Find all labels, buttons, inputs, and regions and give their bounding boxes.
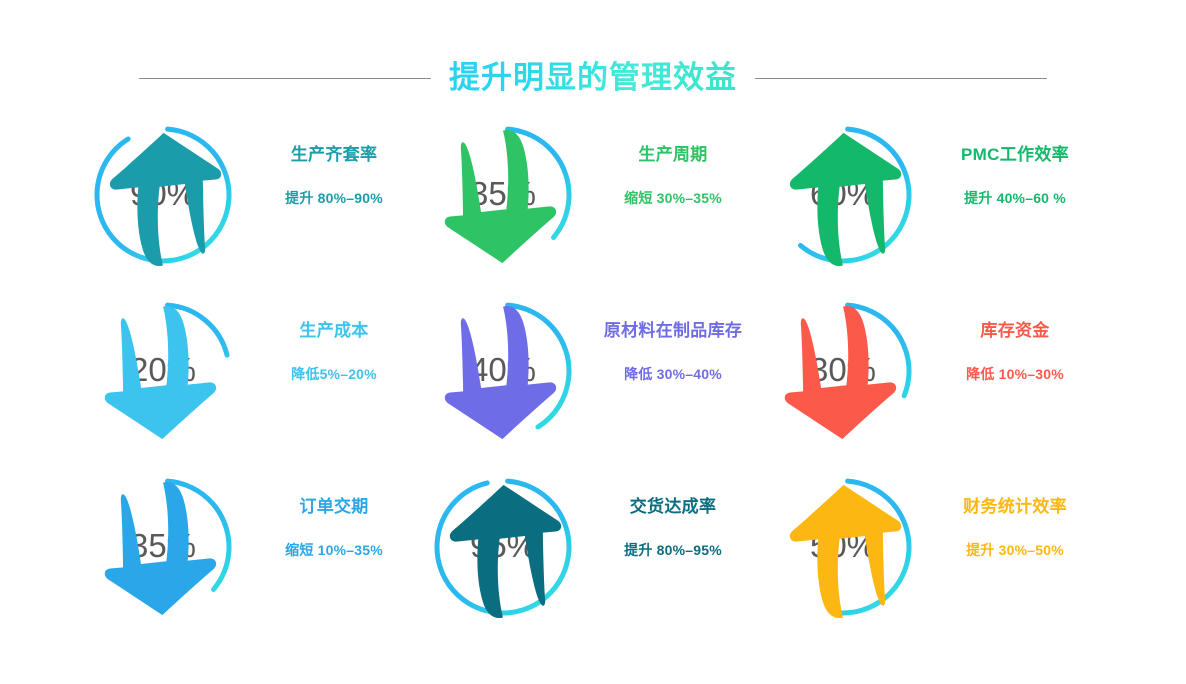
metric-labels: 生产周期 缩短 30%–35% <box>576 122 770 208</box>
metric-labels: 库存资金 降低 10%–30% <box>916 298 1110 384</box>
metric-labels: 订单交期 缩短 10%–35% <box>236 474 430 560</box>
ring-center: 40% <box>430 298 576 444</box>
ring-center: 90% <box>90 122 236 268</box>
arrow-down-icon <box>430 125 576 271</box>
progress-ring: 90% <box>90 122 236 268</box>
ring-center: 95% <box>430 474 576 620</box>
ring-center: 50% <box>770 474 916 620</box>
metric-subtitle: 提升 30%–50% <box>920 540 1110 560</box>
arrow-up-icon <box>90 125 236 271</box>
metric-title: 原材料在制品库存 <box>576 320 770 342</box>
metric-labels: 交货达成率 提升 80%–95% <box>576 474 770 560</box>
arrow-down-icon <box>430 301 576 447</box>
ring-center: 60% <box>770 122 916 268</box>
metric-labels: 生产齐套率 提升 80%–90% <box>236 122 430 208</box>
metric-card: 50% 财务统计效率 提升 30%–50% <box>770 470 1110 646</box>
metric-card: 90% 生产齐套率 提升 80%–90% <box>90 118 430 294</box>
metric-title: 订单交期 <box>238 496 430 518</box>
metric-labels: 生产成本 降低5%–20% <box>236 298 430 384</box>
ring-center: 35% <box>90 474 236 620</box>
progress-ring: 40% <box>430 298 576 444</box>
metric-subtitle: 提升 40%–60 % <box>920 188 1110 208</box>
metric-title: 交货达成率 <box>576 496 770 518</box>
arrow-down-icon <box>770 301 916 447</box>
metric-subtitle: 降低 10%–30% <box>920 364 1110 384</box>
progress-ring: 60% <box>770 122 916 268</box>
metric-subtitle: 提升 80%–95% <box>576 540 770 560</box>
header-rule-left <box>139 78 431 79</box>
metric-subtitle: 降低5%–20% <box>238 364 430 384</box>
ring-center: 30% <box>770 298 916 444</box>
metric-subtitle: 缩短 10%–35% <box>238 540 430 560</box>
progress-ring: 35% <box>90 474 236 620</box>
page-title: 提升明显的管理效益 <box>449 59 737 96</box>
ring-center: 35% <box>430 122 576 268</box>
metric-subtitle: 降低 30%–40% <box>576 364 770 384</box>
progress-ring: 35% <box>430 122 576 268</box>
progress-ring: 20% <box>90 298 236 444</box>
metric-card: 35% 生产周期 缩短 30%–35% <box>430 118 770 294</box>
arrow-down-icon <box>90 477 236 623</box>
metric-title: 生产成本 <box>238 320 430 342</box>
progress-ring: 30% <box>770 298 916 444</box>
metric-subtitle: 提升 80%–90% <box>238 188 430 208</box>
progress-ring: 50% <box>770 474 916 620</box>
metric-subtitle: 缩短 30%–35% <box>576 188 770 208</box>
metric-card: 40% 原材料在制品库存 降低 30%–40% <box>430 294 770 470</box>
arrow-up-icon <box>430 477 576 623</box>
arrow-up-icon <box>770 477 916 623</box>
metric-card: 35% 订单交期 缩短 10%–35% <box>90 470 430 646</box>
header-rule-right <box>755 78 1047 79</box>
metric-title: PMC工作效率 <box>920 144 1110 166</box>
ring-center: 20% <box>90 298 236 444</box>
metric-title: 库存资金 <box>920 320 1110 342</box>
metric-card: 30% 库存资金 降低 10%–30% <box>770 294 1110 470</box>
slide-root: 提升明显的管理效益 90% <box>0 0 1186 684</box>
arrow-up-icon <box>770 125 916 271</box>
metric-labels: 财务统计效率 提升 30%–50% <box>916 474 1110 560</box>
metric-title: 生产周期 <box>576 144 770 166</box>
slide-header: 提升明显的管理效益 <box>0 52 1186 104</box>
metric-labels: PMC工作效率 提升 40%–60 % <box>916 122 1110 208</box>
metrics-grid: 90% 生产齐套率 提升 80%–90% <box>90 118 1110 646</box>
metric-title: 财务统计效率 <box>920 496 1110 518</box>
arrow-down-icon <box>90 301 236 447</box>
progress-ring: 95% <box>430 474 576 620</box>
metric-labels: 原材料在制品库存 降低 30%–40% <box>576 298 770 384</box>
metric-card: 95% 交货达成率 提升 80%–95% <box>430 470 770 646</box>
metric-card: 20% 生产成本 降低5%–20% <box>90 294 430 470</box>
metric-card: 60% PMC工作效率 提升 40%–60 % <box>770 118 1110 294</box>
metric-title: 生产齐套率 <box>238 144 430 166</box>
